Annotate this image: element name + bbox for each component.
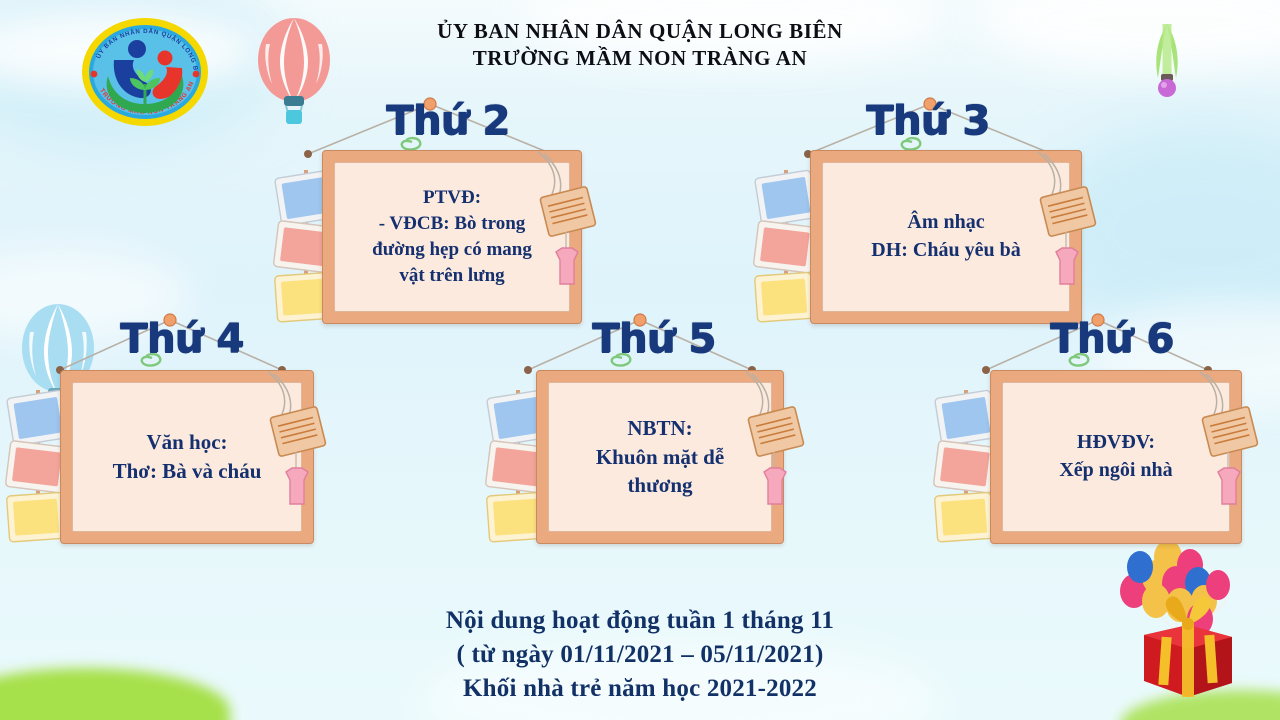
school-logo: ỦY BAN NHÂN DÂN QUẬN LONG BIÊN TRƯỜNG MẦ… [78, 16, 212, 128]
board-thu-5[interactable]: Thứ 5 [490, 308, 790, 548]
board-right-decorations-2 [528, 150, 600, 306]
board-line-6-1: Xếp ngôi nhà [1059, 457, 1172, 485]
board-right-decorations-3 [1028, 150, 1100, 306]
board-line-4-0: Văn học: [146, 428, 227, 457]
board-thu-6[interactable]: Thứ 6 [950, 308, 1250, 548]
board-day-title-3: Thứ 3 [866, 98, 990, 144]
board-line-2-0: PTVĐ: [423, 185, 481, 211]
board-day-title-2: Thứ 2 [386, 98, 510, 144]
caption-line-2: ( từ ngày 01/11/2021 – 05/11/2021) [0, 638, 1280, 672]
board-line-3-0: Âm nhạc [907, 209, 984, 237]
poster-canvas: ỦY BAN NHÂN DÂN QUẬN LONG BIÊN TRƯỜNG MẦ… [0, 0, 1280, 720]
caption-line-1: Nội dung hoạt động tuần 1 tháng 11 [0, 604, 1280, 638]
board-line-4-1: Thơ: Bà và cháu [113, 457, 262, 486]
board-line-6-0: HĐVĐV: [1077, 429, 1155, 457]
board-line-5-0: NBTN: [627, 414, 692, 443]
board-thu-4[interactable]: Thứ 4 [20, 308, 320, 548]
board-right-decorations-6 [1190, 370, 1262, 526]
board-line-3-1: DH: Cháu yêu bà [871, 237, 1020, 265]
board-thu-3[interactable]: Thứ 3 [780, 92, 1080, 324]
board-thu-2[interactable]: Thứ 2 [280, 92, 580, 324]
caption-line-3: Khối nhà trẻ năm học 2021-2022 [0, 672, 1280, 706]
board-day-title-4: Thứ 4 [120, 316, 244, 362]
board-day-title-5: Thứ 5 [592, 316, 716, 362]
footer-caption: Nội dung hoạt động tuần 1 tháng 11 ( từ … [0, 604, 1280, 706]
board-right-decorations-5 [736, 370, 808, 526]
board-line-5-1: Khuôn mặt dễ thương [596, 443, 724, 501]
board-line-2-1: - VĐCB: Bò trong đường hẹp có mang vật t… [372, 211, 532, 290]
board-right-decorations-4 [258, 370, 330, 526]
board-day-title-6: Thứ 6 [1050, 316, 1174, 362]
